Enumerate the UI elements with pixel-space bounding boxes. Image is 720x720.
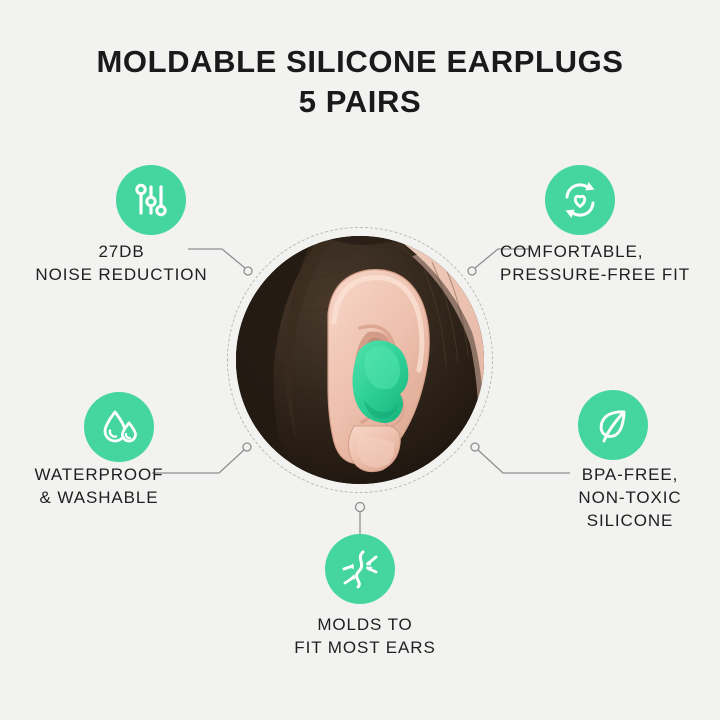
feature-label-line-2: PRESSURE-FREE FIT: [500, 263, 720, 286]
product-infographic: MOLDABLE SILICONE EARPLUGS 5 PAIRS: [0, 0, 720, 720]
feature-label-line-1: COMFORTABLE,: [500, 240, 720, 263]
title-line-1: MOLDABLE SILICONE EARPLUGS: [0, 42, 720, 82]
feature-label-line-1: 27DB: [0, 240, 243, 263]
feature-label-noise-reduction: 27DB NOISE REDUCTION: [0, 240, 243, 286]
feature-label-line-1: WATERPROOF: [0, 463, 198, 486]
feature-label-line-3: SILICONE: [540, 509, 720, 532]
feature-label-molds-to-fit: MOLDS TO FIT MOST EARS: [250, 613, 480, 659]
photo-circle-mask: [236, 236, 484, 484]
connector-dot-molds-to-fit: [356, 503, 365, 512]
feature-icon-molds-to-fit: [325, 534, 395, 604]
feature-icon-waterproof: [84, 392, 154, 462]
product-photo: [236, 236, 484, 484]
feature-label-waterproof: WATERPROOF & WASHABLE: [0, 463, 198, 509]
feature-label-bpa-free: BPA-FREE, NON-TOXIC SILICONE: [540, 463, 720, 532]
feature-icon-bpa-free: [578, 390, 648, 460]
feature-label-line-2: & WASHABLE: [0, 486, 198, 509]
refresh-heart-icon: [559, 179, 601, 221]
feature-label-line-1: BPA-FREE,: [540, 463, 720, 486]
page-title: MOLDABLE SILICONE EARPLUGS 5 PAIRS: [0, 42, 720, 122]
feature-icon-noise-reduction: [116, 165, 186, 235]
water-droplets-icon: [99, 407, 139, 447]
feature-label-comfortable-fit: COMFORTABLE, PRESSURE-FREE FIT: [500, 240, 720, 286]
feature-label-line-2: FIT MOST EARS: [250, 636, 480, 659]
molding-arrows-icon: [339, 548, 381, 590]
leaf-icon: [593, 405, 633, 445]
title-line-2: 5 PAIRS: [0, 82, 720, 122]
ear-photo-illustration: [236, 236, 484, 484]
feature-icon-comfortable-fit: [545, 165, 615, 235]
feature-label-line-2: NON-TOXIC: [540, 486, 720, 509]
equalizer-sliders-icon: [131, 180, 171, 220]
feature-label-line-2: NOISE REDUCTION: [0, 263, 243, 286]
feature-label-line-1: MOLDS TO: [250, 613, 480, 636]
